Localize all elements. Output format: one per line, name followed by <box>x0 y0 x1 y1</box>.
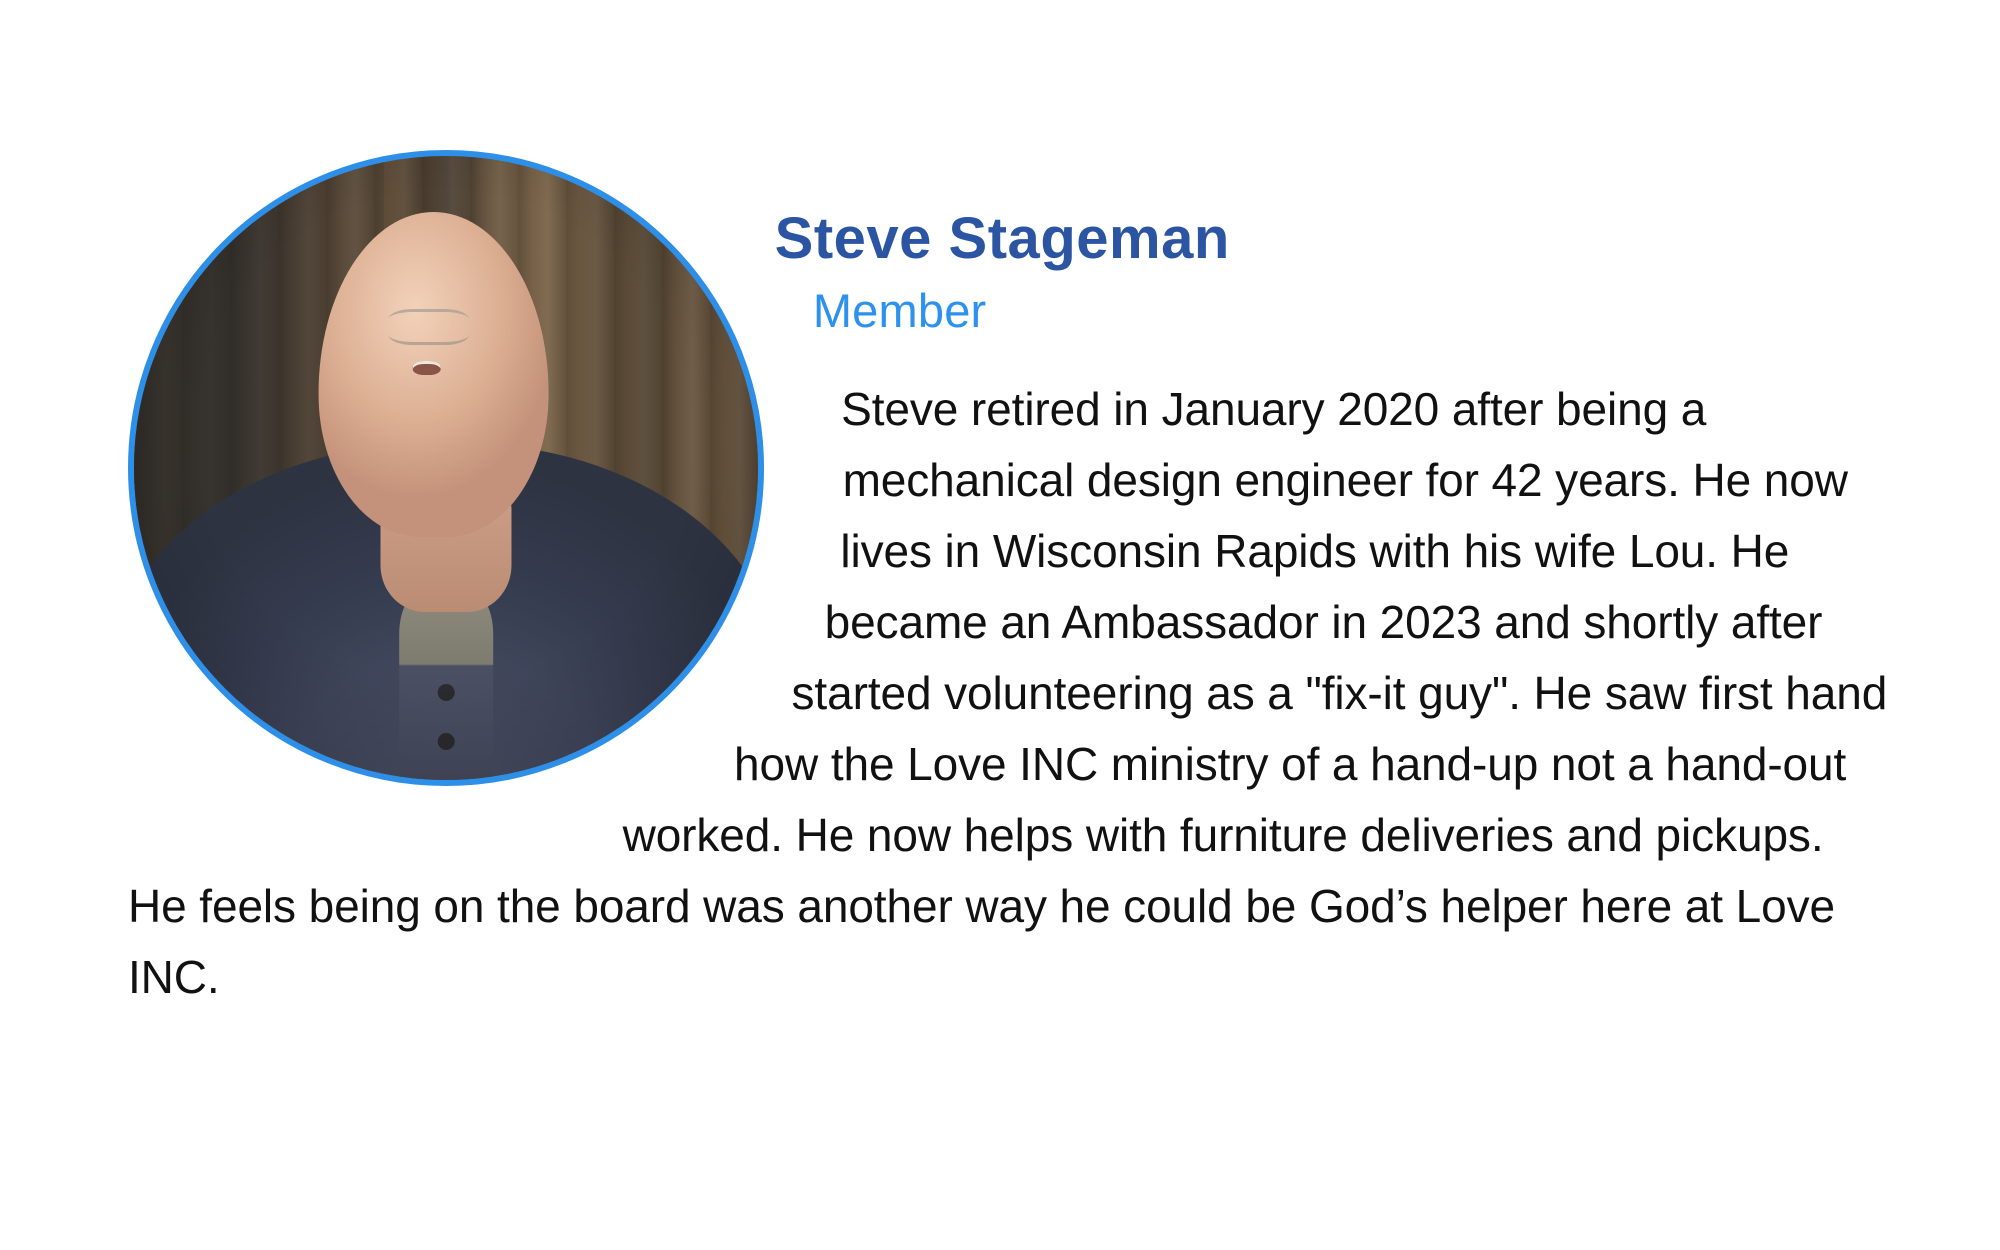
person-portrait-photo <box>128 150 764 786</box>
portrait-vignette <box>134 156 758 780</box>
portrait-container <box>128 150 764 786</box>
board-member-profile-card: Steve Stageman Member Steve retired in J… <box>0 0 2000 1250</box>
